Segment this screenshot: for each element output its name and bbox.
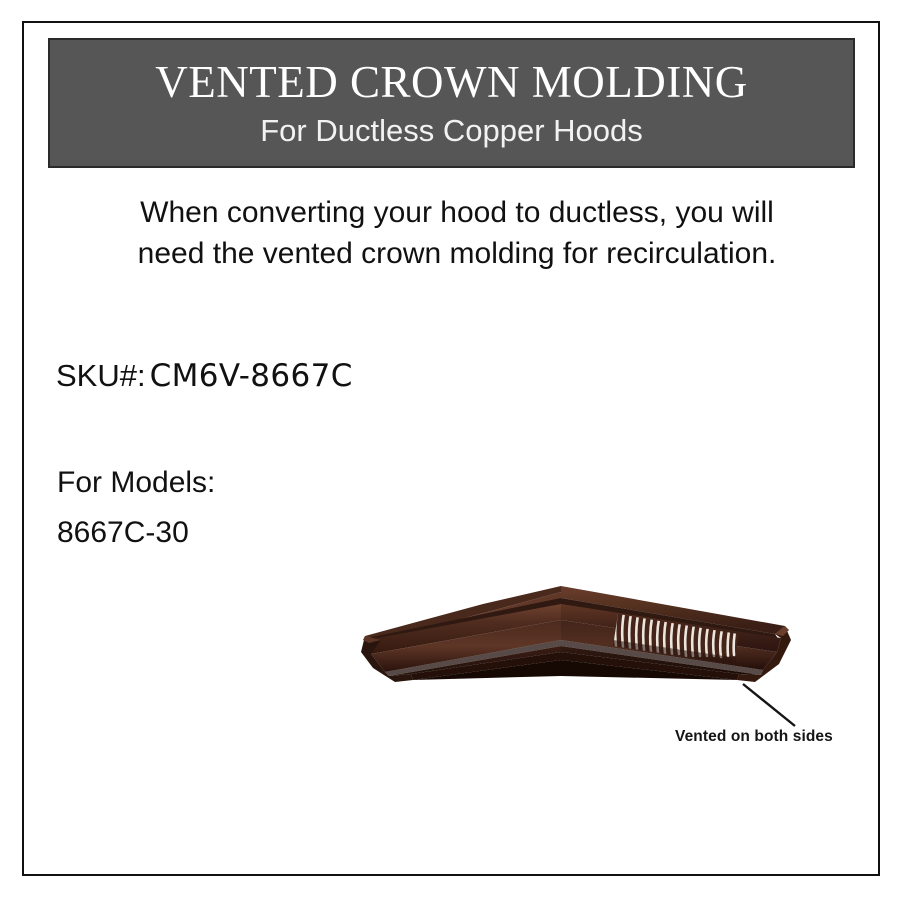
callout-label: Vented on both sides	[675, 728, 833, 746]
sku-row: SKU#: CM6V-8667C	[56, 358, 353, 394]
sku-value: CM6V-8667C	[150, 358, 353, 394]
model-item: 8667C-30	[57, 518, 215, 548]
description-paragraph: When converting your hood to ductless, y…	[62, 192, 852, 275]
product-illustration: Vented on both sides	[355, 548, 855, 768]
header-banner: VENTED CROWN MOLDING For Ductless Copper…	[48, 38, 855, 168]
callout-leader-line	[743, 684, 795, 726]
models-list: 8667C-30	[57, 518, 215, 548]
page-title: VENTED CROWN MOLDING	[155, 60, 747, 106]
models-label: For Models:	[57, 468, 215, 498]
models-block: For Models: 8667C-30	[57, 468, 215, 548]
description-line-1: When converting your hood to ductless, y…	[62, 192, 852, 233]
page-subtitle: For Ductless Copper Hoods	[260, 114, 643, 148]
description-line-2: need the vented crown molding for recirc…	[62, 233, 852, 274]
sku-label: SKU#:	[56, 358, 146, 394]
